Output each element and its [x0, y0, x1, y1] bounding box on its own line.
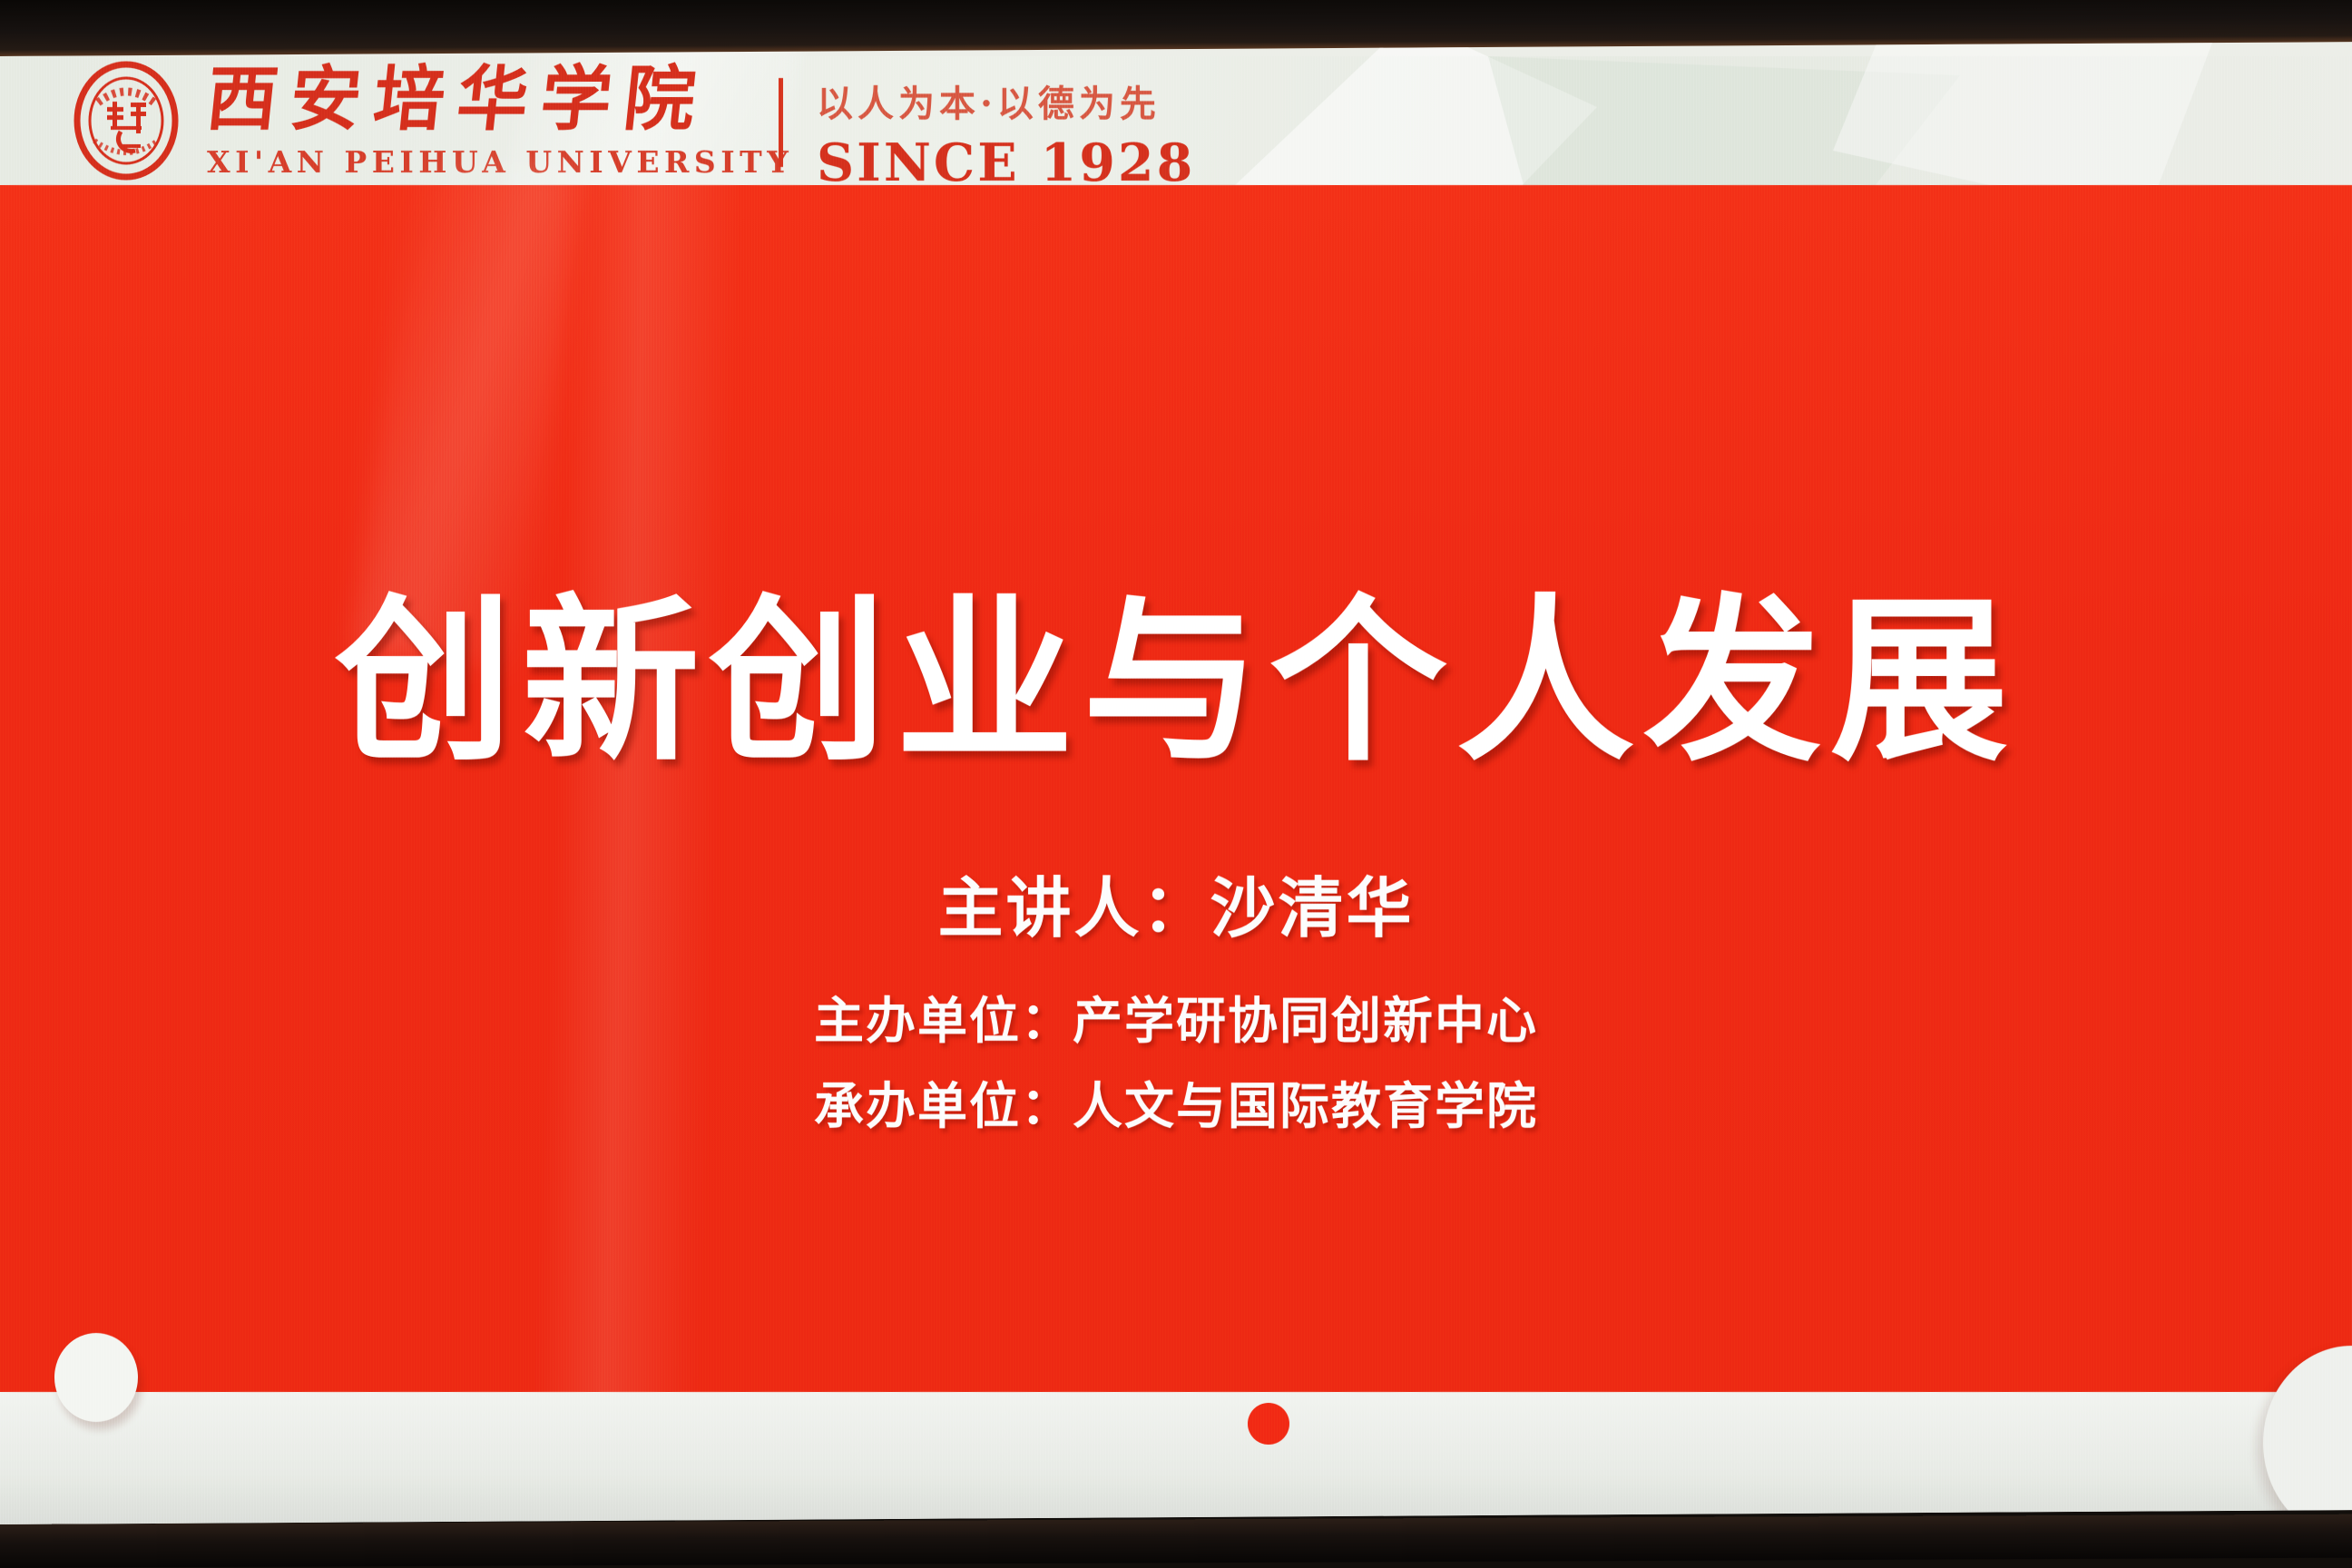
footer-white-circle-left [54, 1333, 138, 1422]
speaker-line: 主讲人：沙清华 [0, 855, 2352, 950]
university-name-cn: 西安培华学院 [203, 65, 797, 134]
university-motto-block: 以人为本·以德为先 SINCE 1928 [817, 74, 1195, 193]
organizer-line: 主办单位：产学研协同创新中心 [0, 980, 2352, 1053]
screen-bezel-bottom [0, 1514, 2352, 1568]
footer-red-dot [1248, 1403, 1289, 1445]
slide-footer-strip [0, 1392, 2352, 1524]
university-seal-icon [71, 57, 181, 184]
header-vertical-divider [779, 78, 783, 167]
co-organizer-line: 承办单位：人文与国际教育学院 [0, 1065, 2352, 1138]
slide-header-band: 西安培华学院 XI'AN PEIHUA UNIVERSITY 以人为本·以德为先… [0, 56, 2352, 185]
motto-text-cn: 以人为本·以德为先 [817, 74, 1195, 127]
slide-title: 创新创业与个人发展 [0, 593, 2352, 771]
slide-body-panel [0, 185, 2352, 1392]
presentation-slide: 西安培华学院 XI'AN PEIHUA UNIVERSITY 以人为本·以德为先… [0, 42, 2352, 1524]
projection-screen: 西安培华学院 XI'AN PEIHUA UNIVERSITY 以人为本·以德为先… [0, 0, 2352, 1568]
since-year-text: SINCE 1928 [817, 132, 1195, 193]
